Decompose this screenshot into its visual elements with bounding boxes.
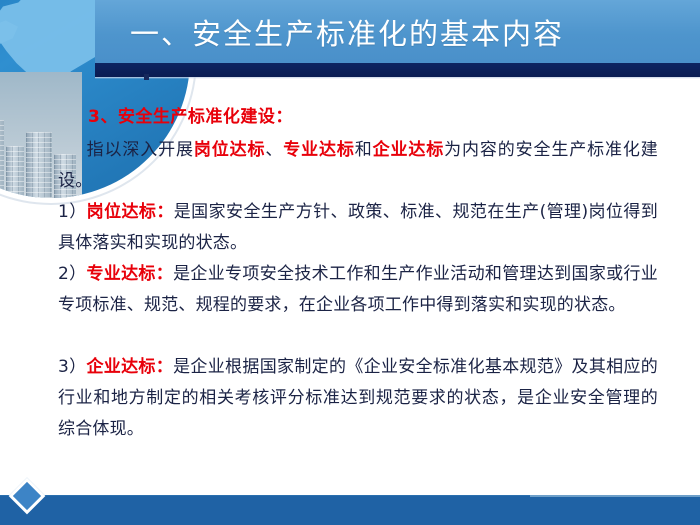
title-underline-bar <box>95 63 700 77</box>
slide-title: 一、安全生产标准化的基本内容 <box>130 17 564 51</box>
item1-colon: ： <box>156 202 173 222</box>
intro-sep-1: 、 <box>265 140 283 160</box>
paragraph-item-3: 3）企业达标：是企业根据国家制定的《企业安全标准化基本规范》及其相应的行业和地方… <box>58 352 658 445</box>
paragraph-item-1: 1）岗位达标：是国家安全生产方针、政策、标准、规范在生产(管理)岗位得到具体落实… <box>58 197 658 259</box>
bullet-dot <box>144 74 149 80</box>
paragraph-item-2: 2）专业达标：是企业专项安全技术工作和生产作业活动和管理达到国家或行业专项标准、… <box>58 259 658 321</box>
item1-term: 岗位达标 <box>87 202 157 222</box>
term-qiye: 企业达标 <box>373 140 445 160</box>
footer-edge-line <box>0 495 530 496</box>
item1-number: 1） <box>58 202 87 222</box>
item2-term: 专业达标 <box>86 264 155 284</box>
item3-colon: ： <box>156 357 173 377</box>
footer-highlight-line <box>530 495 700 497</box>
title-underline-shadow <box>95 77 700 79</box>
item2-colon: ： <box>156 264 173 284</box>
term-zhuanye: 专业达标 <box>283 140 355 160</box>
term-gangwei: 岗位达标 <box>194 140 266 160</box>
intro-lead: 指以深入开展 <box>86 140 194 160</box>
footer-bar <box>0 495 700 525</box>
section-heading: 3、安全生产标准化建设： <box>88 102 293 127</box>
item3-number: 3） <box>58 357 86 377</box>
slide-canvas: 一、安全生产标准化的基本内容 3、安全生产标准化建设： 指以深入开展岗位达标、专… <box>0 0 700 525</box>
item2-number: 2） <box>58 264 86 284</box>
slide-body: 3、安全生产标准化建设： 指以深入开展岗位达标、专业达标和企业达标为内容的安全生… <box>0 92 700 462</box>
intro-sep-2: 和 <box>355 140 373 160</box>
item3-term: 企业达标 <box>86 357 155 377</box>
paragraph-intro: 指以深入开展岗位达标、专业达标和企业达标为内容的安全生产标准化建设。 <box>58 135 658 197</box>
